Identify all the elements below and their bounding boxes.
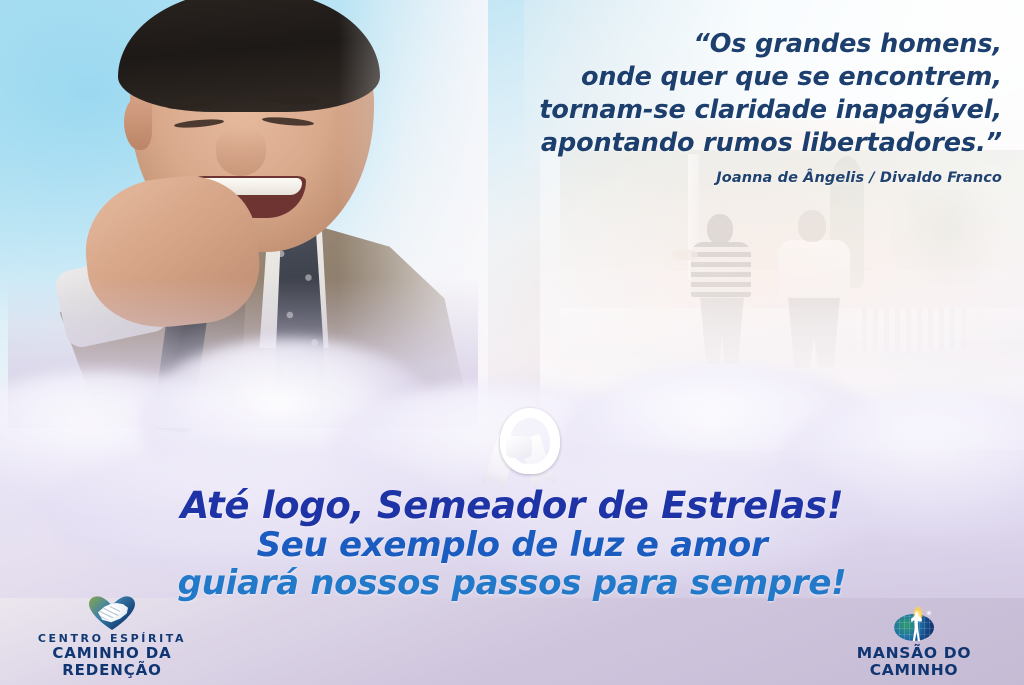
heart-with-hand-icon: [89, 596, 135, 630]
quote-text: “Os grandes homens, onde quer que se enc…: [442, 28, 1002, 160]
portrait-ear: [124, 98, 152, 150]
quote-line-1: “Os grandes homens,: [442, 28, 1002, 61]
logo-right-line-2: MANSÃO DO CAMINHO: [814, 645, 1014, 679]
portrait-nose: [216, 128, 266, 176]
logo-mansao-do-caminho: MANSÃO DO CAMINHO: [814, 607, 1014, 679]
white-ribbon-icon: [482, 408, 556, 488]
headline-text: Até logo, Semeador de Estrelas! Seu exem…: [0, 486, 1024, 602]
logo-centro-espirita: CENTRO ESPÍRITA CAMINHO DA REDENÇÃO: [12, 596, 212, 679]
quote-line-4: apontando rumos libertadores.”: [442, 127, 1002, 160]
memorial-poster: “Os grandes homens, onde quer que se enc…: [0, 0, 1024, 685]
headline-line-2: Seu exemplo de luz e amor: [0, 526, 1024, 564]
globe-with-figure-icon: [891, 607, 937, 643]
quote-line-2: onde quer que se encontrem,: [442, 61, 1002, 94]
quote-attribution: Joanna de Ângelis / Divaldo Franco: [442, 170, 1002, 186]
logo-left-line-2: CAMINHO DA REDENÇÃO: [12, 645, 212, 679]
headline-line-1: Até logo, Semeador de Estrelas!: [0, 486, 1024, 526]
quote-line-3: tornam-se claridade inapagável,: [442, 94, 1002, 127]
sparkle-icon: [926, 610, 932, 616]
ribbon-knot: [506, 436, 532, 458]
